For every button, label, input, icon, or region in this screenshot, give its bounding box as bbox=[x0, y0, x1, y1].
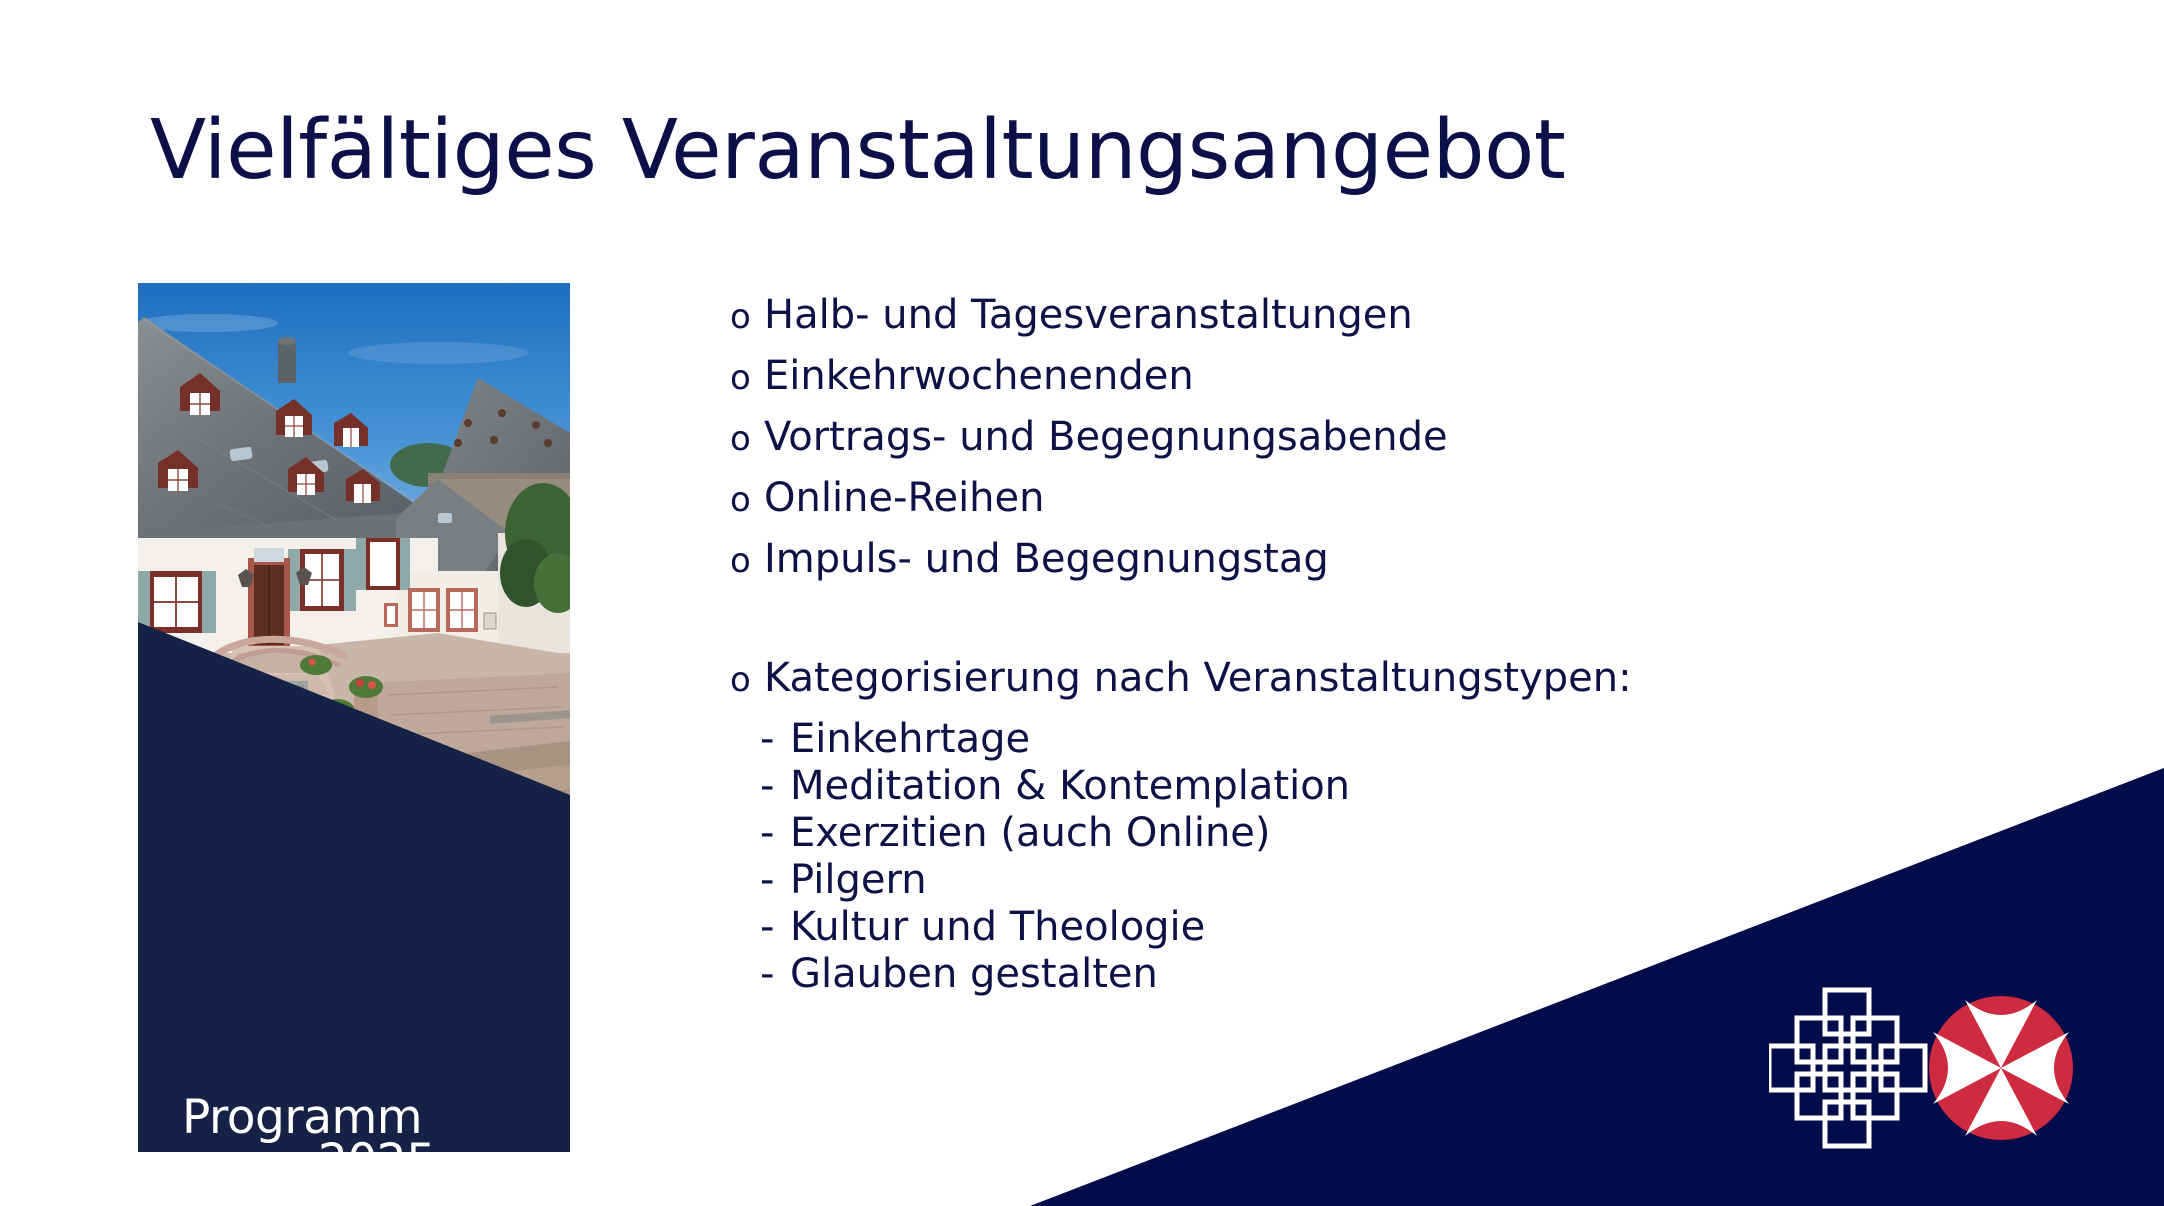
bullet-label: Online-Reihen bbox=[764, 478, 1045, 518]
bullet-marker: o bbox=[730, 361, 764, 395]
sub-list-label: Glauben gestalten bbox=[790, 954, 1158, 994]
maltese-cross-icon bbox=[1929, 996, 2073, 1140]
dash-marker: - bbox=[760, 907, 790, 947]
page-title: Vielfältiges Veranstaltungsangebot bbox=[150, 108, 1565, 194]
list-item: o Halb- und Tagesveranstaltungen bbox=[730, 295, 1910, 356]
brochure-navy-overlay bbox=[138, 283, 570, 1152]
list-item-categories-heading: o Kategorisierung nach Veranstaltungstyp… bbox=[730, 658, 1910, 719]
brochure-year-label: 2025 bbox=[318, 1134, 436, 1152]
bullet-marker: o bbox=[730, 663, 764, 697]
sub-list-label: Einkehrtage bbox=[790, 719, 1030, 759]
sub-list-item: - Pilgern bbox=[730, 860, 1910, 907]
list-gap bbox=[730, 600, 1910, 658]
bullet-label: Einkehrwochenenden bbox=[764, 356, 1194, 396]
bullet-label: Halb- und Tagesveranstaltungen bbox=[764, 295, 1413, 335]
dash-marker: - bbox=[760, 954, 790, 994]
sub-list-item: - Kultur und Theologie bbox=[730, 907, 1910, 954]
dash-marker: - bbox=[760, 860, 790, 900]
bullet-marker: o bbox=[730, 544, 764, 578]
event-offering-list: o Halb- und Tagesveranstaltungen o Einke… bbox=[730, 295, 1910, 1001]
bullet-marker: o bbox=[730, 300, 764, 334]
bullet-marker: o bbox=[730, 483, 764, 517]
brochure-cover-image: Programm 2025 Geistliches Zentrum Nieder… bbox=[138, 283, 570, 1152]
list-item: o Impuls- und Begegnungstag bbox=[730, 539, 1910, 600]
list-item: o Vortrags- und Begegnungsabende bbox=[730, 417, 1910, 478]
sub-list-item: - Meditation & Kontemplation bbox=[730, 766, 1910, 813]
sub-list-item: - Einkehrtage bbox=[730, 719, 1910, 766]
bullet-label: Impuls- und Begegnungstag bbox=[764, 539, 1329, 579]
johanniter-square-cross-icon bbox=[1769, 990, 1925, 1146]
sub-list-label: Kultur und Theologie bbox=[790, 907, 1205, 947]
list-item: o Online-Reihen bbox=[730, 478, 1910, 539]
dash-marker: - bbox=[760, 766, 790, 806]
sub-list-label: Pilgern bbox=[790, 860, 927, 900]
sub-list-item: - Exerzitien (auch Online) bbox=[730, 813, 1910, 860]
dash-marker: - bbox=[760, 719, 790, 759]
sub-list-label: Meditation & Kontemplation bbox=[790, 766, 1350, 806]
sub-list-label: Exerzitien (auch Online) bbox=[790, 813, 1271, 853]
sub-list-item: - Glauben gestalten bbox=[730, 954, 1910, 1001]
footer-logo-group bbox=[1769, 985, 2079, 1160]
bullet-label: Kategorisierung nach Veranstaltungstypen… bbox=[764, 658, 1632, 698]
list-item: o Einkehrwochenenden bbox=[730, 356, 1910, 417]
bullet-marker: o bbox=[730, 422, 764, 456]
dash-marker: - bbox=[760, 813, 790, 853]
bullet-label: Vortrags- und Begegnungsabende bbox=[764, 417, 1448, 457]
